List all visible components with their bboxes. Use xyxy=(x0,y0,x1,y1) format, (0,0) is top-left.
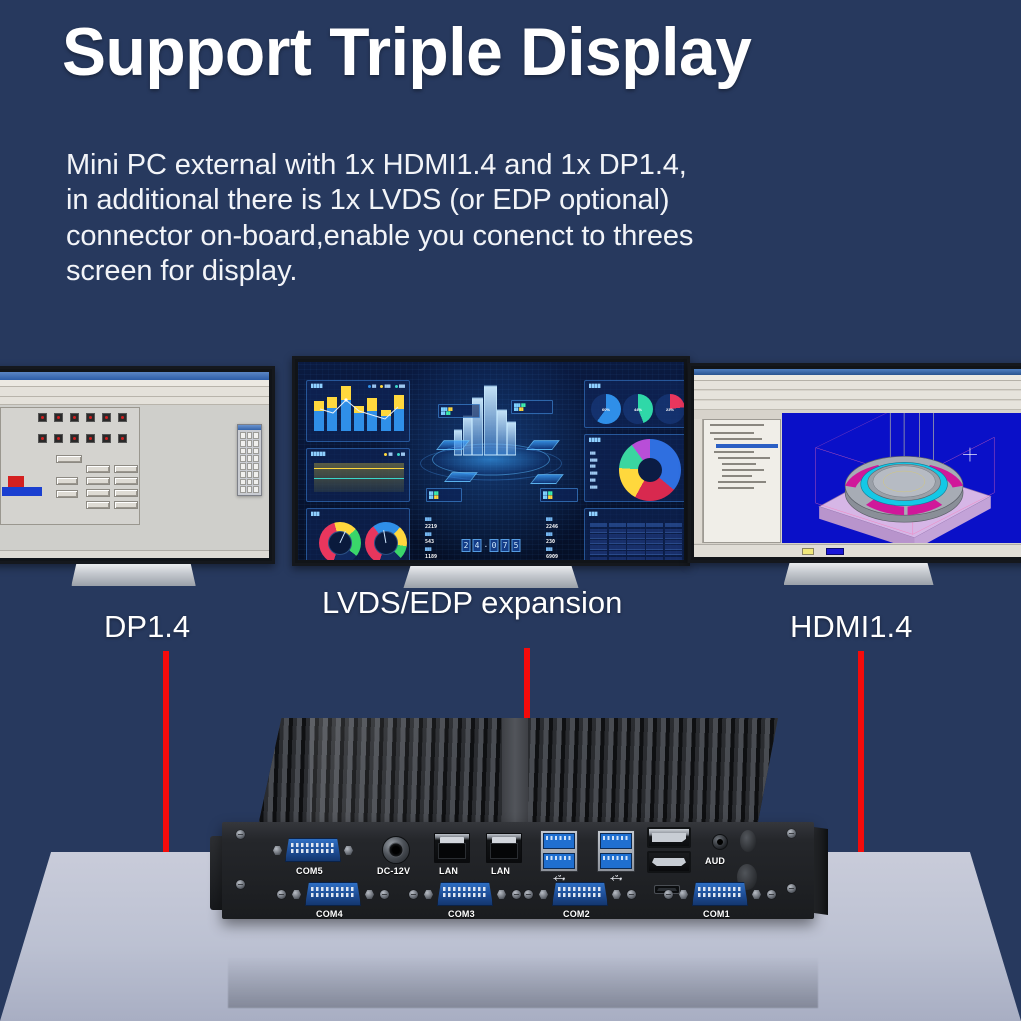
donut-series xyxy=(619,439,681,501)
port-hdmi[interactable] xyxy=(647,851,691,873)
description-line-4: screen for display. xyxy=(66,254,966,289)
panel-screw xyxy=(512,890,521,899)
port-hexnut xyxy=(273,846,282,855)
port-label-dc-12v: DC-12V xyxy=(377,866,410,876)
titlebar xyxy=(0,372,269,380)
overlay-line-series xyxy=(314,395,406,435)
gauge-left xyxy=(319,522,361,560)
dashboard-gauges-card: ███ xyxy=(306,508,410,560)
port-hexnut xyxy=(365,890,374,899)
port-hexnut xyxy=(679,890,688,899)
metric-tag-bottom-left: ██ ████ ██ xyxy=(426,488,462,502)
port-com2[interactable] xyxy=(552,882,608,906)
statusbar xyxy=(0,550,269,558)
port-com1[interactable] xyxy=(692,882,748,906)
usb-icon xyxy=(552,875,566,882)
mini-pc-io-panel: COM5 DC-12V LAN LAN xyxy=(222,822,814,919)
vertical-icon-bar xyxy=(694,419,703,543)
cad-cam-application xyxy=(694,369,1021,557)
heatsink-center-rail xyxy=(502,718,528,826)
card-title: █████ xyxy=(311,452,326,456)
tree-selected-item xyxy=(716,444,778,448)
card-title: ████ xyxy=(589,438,601,442)
db9-connector xyxy=(437,882,493,906)
isometric-city-graphic xyxy=(426,377,556,482)
monitor-left-screen xyxy=(0,372,269,558)
chart-legend: ██ ██ xyxy=(384,452,405,456)
port-label-lan-1: LAN xyxy=(439,866,458,876)
usb-port[interactable] xyxy=(543,853,575,869)
mini-pc-side-panel xyxy=(814,827,828,915)
monitor-left-bezel xyxy=(0,366,275,564)
leader-line-hdmi-vertical xyxy=(858,651,864,866)
page-title: Support Triple Display xyxy=(62,18,954,86)
chip-node-right-2 xyxy=(530,474,564,484)
card-title: ███ xyxy=(589,512,598,516)
table-row xyxy=(590,540,682,544)
callout-label-lvds: LVDS/EDP expansion xyxy=(322,585,622,621)
port-usb-stack-1[interactable] xyxy=(540,830,578,872)
gauge-card-2-value: 44% xyxy=(623,394,653,424)
dashboard-donut-chart-card: ████ █████████████████████ xyxy=(584,434,684,502)
monitor-right xyxy=(688,363,1021,563)
monitor-right-stand xyxy=(783,563,933,585)
port-label-com3: COM3 xyxy=(448,909,475,919)
gauge-card-1: 60% xyxy=(591,394,621,424)
counter-digit: 7 xyxy=(501,539,510,552)
menubar xyxy=(0,380,269,387)
panel-screw xyxy=(627,890,636,899)
db9-connector xyxy=(692,882,748,906)
port-label-com2: COM2 xyxy=(563,909,590,919)
panel-screw xyxy=(409,890,418,899)
port-com5[interactable] xyxy=(285,838,341,862)
gauge-right xyxy=(365,522,407,560)
data-table xyxy=(590,523,682,560)
port-label-lan-2: LAN xyxy=(491,866,510,876)
port-lan-1[interactable] xyxy=(434,833,470,863)
table-row xyxy=(590,557,682,560)
counter-digit: 0 xyxy=(490,539,499,552)
port-label-aud: AUD xyxy=(705,856,725,866)
leader-line-dp-vertical xyxy=(163,651,169,869)
port-lan-2[interactable] xyxy=(486,833,522,863)
monitor-center-screen: ████ ██ ███ ███ xyxy=(298,362,684,560)
description-line-3: connector on-board,enable you conenct to… xyxy=(66,219,966,254)
metric-tag-bottom-right: ██ ████ ██ xyxy=(540,488,578,502)
blue-data-dashboard: ████ ██ ███ ███ xyxy=(298,362,684,560)
table-header-row xyxy=(590,523,682,527)
gauge-card-3-value: 23% xyxy=(655,394,684,424)
port-hexnut xyxy=(539,890,548,899)
counter-digit: 4 xyxy=(473,539,482,552)
counter-digit: 5 xyxy=(512,539,521,552)
metric-tag-top-right: ███ ████ ██ xyxy=(511,400,553,414)
table-row xyxy=(590,551,682,555)
callout-label-hdmi: HDMI1.4 xyxy=(790,609,912,645)
callout-label-dp: DP1.4 xyxy=(104,609,190,645)
port-label-com1: COM1 xyxy=(703,909,730,919)
statusbar xyxy=(694,544,1021,557)
stat-block-left: ███2219 ███543 ███1189 xyxy=(425,517,437,560)
db9-connector xyxy=(285,838,341,862)
mini-bar-chart xyxy=(2,466,44,496)
monitor-right-bezel xyxy=(688,363,1021,563)
port-hexnut xyxy=(752,890,761,899)
dashboard-bar-chart-card: ████ ██ ███ ███ xyxy=(306,380,410,442)
panel-screw xyxy=(664,890,673,899)
port-dc-12v[interactable] xyxy=(382,836,410,864)
toolbar-row-3 xyxy=(694,401,1021,410)
toolbar-row-1 xyxy=(694,381,1021,390)
operations-tree-panel xyxy=(703,419,781,543)
table-row xyxy=(590,545,682,549)
port-hexnut xyxy=(344,846,353,855)
db9-connector xyxy=(552,882,608,906)
panel-screw xyxy=(380,890,389,899)
port-hexnut xyxy=(612,890,621,899)
windows-control-application xyxy=(0,372,269,558)
metric-tag-top-left: ███ ████ ██ xyxy=(438,404,480,418)
card-title: ████ xyxy=(311,384,323,388)
db9-connector xyxy=(305,882,361,906)
3d-part-model xyxy=(782,413,1021,543)
mini-pc-reflection xyxy=(228,948,818,1008)
gauge-card-2: 44% xyxy=(623,394,653,424)
port-audio-jack[interactable] xyxy=(712,834,728,850)
dashboard-trend-chart-card: █████ ██ ██ xyxy=(306,448,410,502)
page-description: Mini PC external with 1x HDMI1.4 and 1x … xyxy=(66,148,966,290)
port-hexnut xyxy=(497,890,506,899)
monitor-center-bezel: ████ ██ ███ ███ xyxy=(292,356,690,566)
port-com4[interactable] xyxy=(305,882,361,906)
description-line-2: in additional there is 1x LVDS (or EDP o… xyxy=(66,183,966,218)
toolbar-row-2 xyxy=(0,397,269,405)
mini-pc: COM5 DC-12V LAN LAN xyxy=(210,718,826,948)
stat-block-right: ███2246 ███230 ███6909 xyxy=(546,517,558,560)
toolbar-row-1 xyxy=(0,387,269,397)
floating-tool-palette xyxy=(237,424,262,496)
table-row xyxy=(590,534,682,538)
top-highlight xyxy=(310,718,518,826)
usb-port[interactable] xyxy=(600,853,632,869)
port-usb-stack-2[interactable] xyxy=(597,830,635,872)
panel-screw xyxy=(236,880,245,889)
port-hexnut xyxy=(424,890,433,899)
port-label-com4: COM4 xyxy=(316,909,343,919)
usb-port[interactable] xyxy=(600,833,632,849)
counter-digit: 2 xyxy=(462,539,471,552)
counter-separator: . xyxy=(484,539,488,552)
panel-screw xyxy=(787,829,796,838)
port-hexnut xyxy=(292,890,301,899)
port-com3[interactable] xyxy=(437,882,493,906)
panel-screw xyxy=(236,830,245,839)
monitor-left xyxy=(0,366,275,564)
dashboard-gauge-cards: ████ 60% 44% 23% xyxy=(584,380,684,428)
3d-viewport xyxy=(782,413,1021,543)
mini-pc-heatsink-top xyxy=(258,718,778,826)
panel-screw xyxy=(767,890,776,899)
port-dp-hdmi-stack[interactable] xyxy=(647,827,691,879)
monitor-right-screen xyxy=(694,369,1021,557)
panel-screw xyxy=(524,890,533,899)
monitor-row: ████ ██ ███ ███ xyxy=(0,356,1021,586)
card-title: ███ xyxy=(311,512,320,516)
monitor-left-stand xyxy=(71,564,196,586)
panel-screw xyxy=(277,890,286,899)
donut-legend: █████████████████████ xyxy=(590,451,597,491)
area-series xyxy=(314,463,404,492)
usb-icon xyxy=(609,875,623,882)
monitor-center: ████ ██ ███ ███ xyxy=(292,356,690,566)
gauge-card-3: 23% xyxy=(655,394,684,424)
table-row xyxy=(590,529,682,533)
description-line-1: Mini PC external with 1x HDMI1.4 and 1x … xyxy=(66,148,966,183)
toolbar-row-2 xyxy=(694,391,1021,400)
usb-port[interactable] xyxy=(543,833,575,849)
product-banner: Support Triple Display Mini PC external … xyxy=(0,0,1021,1021)
blank-plug-top xyxy=(740,830,756,852)
chart-legend: ██ ███ ███ xyxy=(368,384,405,388)
port-dp[interactable] xyxy=(647,827,691,848)
digital-counter: 2 4 . 0 7 5 xyxy=(462,539,521,552)
gauge-card-1-value: 60% xyxy=(591,394,621,424)
port-label-com5: COM5 xyxy=(296,866,323,876)
panel-screw xyxy=(787,884,796,893)
dashboard-data-table-card: ███ xyxy=(584,508,684,560)
card-title: ████ xyxy=(589,384,601,388)
